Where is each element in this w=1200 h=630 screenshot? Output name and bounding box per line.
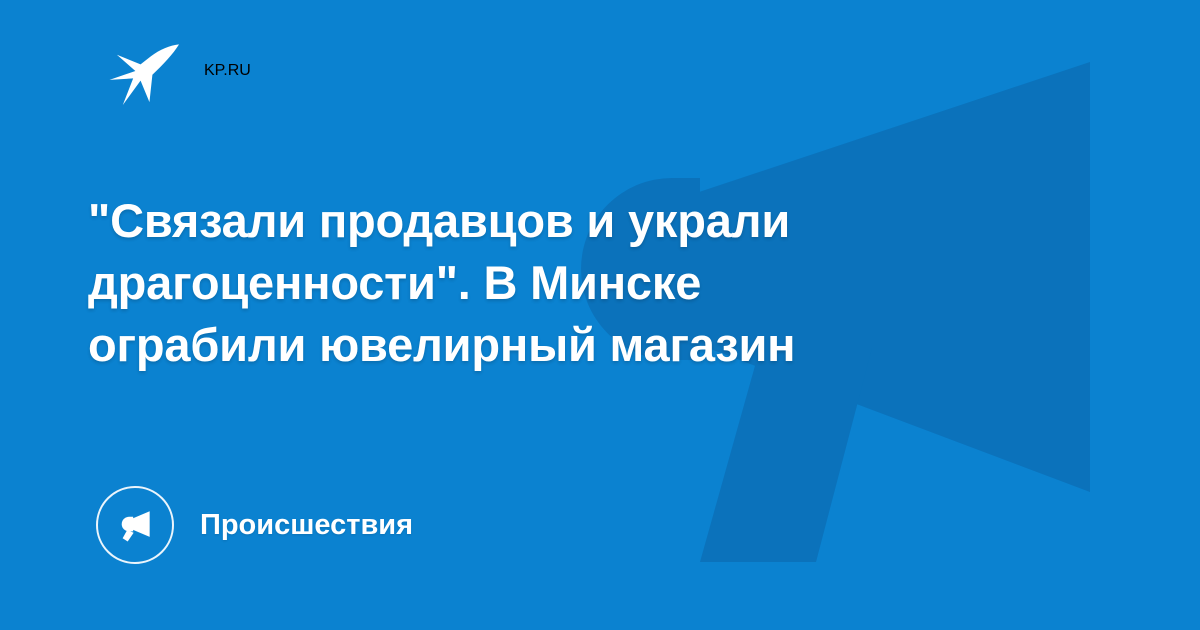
swallow-bird-logo-icon <box>108 34 182 108</box>
headline-line-2: драгоценности". В Минске <box>88 252 1008 314</box>
social-share-card: KP.RU "Связали продавцов и украли драгоц… <box>0 0 1200 630</box>
category-label: Происшествия <box>200 511 413 540</box>
brand-name: KP.RU <box>204 62 251 80</box>
headline-line-1: "Связали продавцов и украли <box>88 190 1008 252</box>
site-header: KP.RU <box>108 34 251 108</box>
page-title: "Связали продавцов и украли драгоценност… <box>88 190 1008 376</box>
headline-line-3: ограбили ювелирный магазин <box>88 314 1008 376</box>
category-badge[interactable]: Происшествия <box>96 486 413 564</box>
megaphone-icon <box>96 486 174 564</box>
